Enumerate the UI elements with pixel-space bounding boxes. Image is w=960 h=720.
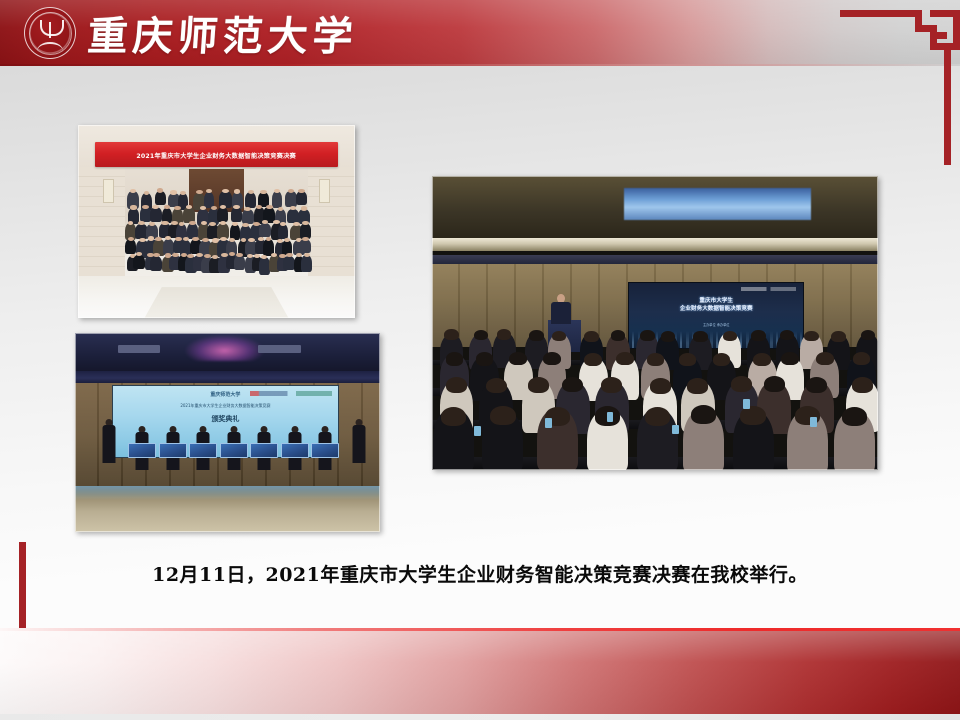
audience-head: [446, 377, 467, 393]
crowd-head: [144, 191, 150, 195]
crowd-head: [298, 189, 305, 193]
event-banner: 2021年重庆市大学生企业财务大数据智能决策竞赛决赛: [95, 142, 339, 167]
crowd-figure: [125, 239, 136, 254]
person-body: [102, 425, 115, 463]
audience-head: [543, 352, 561, 365]
hall-beam: [432, 238, 878, 251]
photo-carpet: [144, 287, 288, 318]
crowd-head: [130, 205, 136, 209]
crowd-head: [211, 206, 217, 210]
award-ceiling-glow: [185, 335, 264, 361]
crowd-head: [271, 253, 277, 257]
audience-head: [474, 330, 488, 341]
hall-upper-screen: [432, 255, 878, 264]
audience-head: [687, 378, 708, 394]
water-bottle: [474, 426, 481, 436]
audience-head: [490, 406, 515, 425]
audience-head: [679, 353, 697, 366]
crowd-head: [280, 222, 286, 226]
audience-head: [853, 352, 871, 365]
photo-lamp-right: [319, 179, 330, 203]
audience-head: [645, 407, 670, 426]
audience-head: [713, 353, 731, 366]
audience-head: [831, 331, 845, 342]
audience-head: [723, 331, 737, 342]
crowd-head: [288, 189, 294, 193]
crowd-figure: [133, 255, 145, 270]
page-footer: [0, 631, 960, 720]
crowd-head: [212, 255, 218, 259]
audience-head: [861, 330, 875, 341]
audience-head: [780, 330, 794, 341]
audience-head: [842, 407, 867, 426]
crowd-head: [175, 237, 181, 241]
certificate-board: [159, 443, 187, 458]
crowd-head: [301, 206, 308, 210]
crowd-head: [139, 238, 146, 242]
crowd-figure: [242, 209, 255, 224]
hall-led-panel: [624, 188, 811, 220]
audience-head: [486, 378, 507, 394]
crowd-head: [152, 205, 159, 209]
audience-head: [661, 331, 675, 342]
audience-head: [509, 352, 527, 365]
audience-head: [693, 331, 707, 342]
speaker-body: [551, 302, 571, 323]
crowd-figure: [234, 255, 246, 270]
group-photo: 2021年重庆市大学生企业财务大数据智能决策竞赛决赛: [78, 125, 355, 318]
crowd-head: [248, 238, 255, 242]
crowd-figure: [231, 207, 243, 222]
audience-head: [806, 377, 827, 393]
audience-head: [781, 352, 799, 365]
photo-wall-right: [308, 167, 355, 287]
top-right-corner-ornament: [840, 10, 960, 170]
person-body: [352, 425, 365, 463]
award-ceremony-photo: 重庆师范大学 2021年重庆市大学生企业财务大数据智能决策竞赛 颁奖典礼: [75, 333, 380, 532]
crowd-head: [234, 189, 240, 193]
audience-head: [816, 352, 834, 365]
audience-head: [647, 353, 665, 366]
water-bottle: [672, 425, 679, 435]
crowd-figure: [299, 239, 311, 253]
certificate-board: [128, 443, 156, 458]
crowd-figure: [272, 191, 282, 208]
water-bottle: [545, 418, 552, 428]
photo-wall-left: [78, 167, 125, 287]
crowd-head: [179, 222, 185, 226]
header-underline: [0, 64, 960, 66]
slide-page: 重庆师范大学 2021年重庆市大学生企业财务大数据智能决策竞赛决赛: [0, 0, 960, 720]
crowd-head: [192, 237, 199, 241]
crowd-head: [248, 190, 254, 194]
audience-head: [731, 376, 752, 392]
audience-head: [476, 352, 494, 365]
crowd-head: [260, 190, 266, 194]
crowd-head: [189, 221, 195, 225]
crowd-figure: [155, 191, 166, 205]
crowd-head: [148, 236, 154, 240]
crowd-head: [128, 237, 134, 241]
water-bottle: [607, 412, 614, 422]
audience-head: [751, 330, 765, 341]
audience-head: [562, 377, 583, 393]
page-header: 重庆师范大学: [0, 0, 960, 66]
hall-speaker: [550, 294, 572, 323]
crowd-head: [258, 237, 264, 241]
award-screen-logos: [250, 391, 331, 396]
certificate-board: [189, 443, 217, 458]
audience-head: [441, 407, 466, 426]
audience-head: [446, 352, 464, 365]
screen-sponsor-logos: [741, 287, 797, 292]
crowd-figure: [217, 207, 228, 221]
audience-head: [640, 330, 654, 341]
certificate-board: [311, 443, 339, 458]
crowd-head: [186, 205, 192, 209]
audience-head: [616, 352, 634, 365]
audience-head: [529, 330, 543, 341]
audience-head: [497, 329, 511, 340]
award-vent-left: [118, 345, 161, 353]
crowd-head: [278, 207, 284, 211]
certificate-board: [281, 443, 309, 458]
crowd-figure: [285, 191, 296, 207]
crowd-head: [180, 191, 186, 195]
crowd-head: [155, 237, 162, 241]
crowd-head: [149, 222, 156, 226]
footer-base-strip: [0, 714, 960, 720]
crowd-head: [172, 253, 179, 257]
screen-title: 重庆市大学生 企业财务大数据智能决策竞赛: [629, 297, 803, 314]
audience-head: [691, 405, 716, 424]
water-bottle: [810, 417, 817, 427]
award-vent-right: [258, 345, 301, 353]
crowd-head: [274, 189, 280, 193]
screen-title-line1: 重庆市大学生: [629, 297, 803, 305]
university-seal-icon: [24, 7, 76, 59]
crowd-head: [161, 221, 168, 225]
crowd-head: [170, 190, 177, 194]
crowd-head: [174, 206, 181, 210]
audience-head: [601, 377, 622, 393]
crowd-head: [142, 205, 149, 209]
school-name-title: 重庆师范大学: [86, 5, 360, 61]
crowd-head: [302, 221, 309, 225]
certificate-board: [220, 443, 248, 458]
conference-hall-photo: 重庆市大学生 企业财务大数据智能决策竞赛 主办单位 承办单位: [432, 176, 878, 470]
audience-head: [650, 378, 671, 394]
seal-flame-glyph: [39, 20, 61, 42]
audience-head: [444, 329, 458, 340]
crowd-head: [201, 221, 207, 225]
award-stage-light: [75, 486, 380, 500]
crowd-head: [157, 188, 163, 192]
slide-caption: 12月11日，2021年重庆市大学生企业财务智能决策竞赛决赛在我校举行。: [0, 560, 960, 587]
audience-head: [552, 331, 566, 342]
crowd-figure: [296, 191, 308, 205]
crowd-figure: [150, 207, 162, 222]
crowd-head: [266, 237, 272, 241]
crowd-head: [266, 205, 273, 209]
crowd-head: [229, 238, 235, 242]
hall-audience: [432, 332, 878, 470]
photo-lamp-left: [103, 179, 114, 203]
crowd-head: [304, 253, 310, 257]
event-banner-text: 2021年重庆市大学生企业财务大数据智能决策竞赛决赛: [137, 150, 297, 160]
award-screen-crest: 重庆师范大学: [210, 391, 240, 398]
crowd-head: [220, 205, 226, 209]
crowd-figure: [259, 223, 271, 237]
audience-head: [804, 331, 818, 342]
crowd-head: [232, 222, 238, 226]
crowd-head: [236, 253, 243, 257]
footer-gloss: [0, 631, 960, 720]
crowd-head: [302, 237, 309, 241]
audience-head: [764, 376, 785, 392]
crowd-head: [233, 205, 239, 209]
crowd-head: [242, 223, 249, 227]
photo-crowd: [125, 191, 308, 280]
audience-head: [753, 353, 771, 366]
crowd-figure: [245, 192, 256, 208]
audience-head: [528, 377, 549, 393]
crowd-figure: [150, 256, 162, 271]
audience-head: [584, 353, 602, 366]
crowd-head: [220, 237, 227, 241]
crowd-head: [196, 253, 203, 257]
water-bottle: [743, 399, 750, 409]
crowd-figure: [301, 255, 312, 272]
crowd-head: [284, 238, 290, 242]
certificate-board: [250, 443, 278, 458]
audience-head: [584, 331, 598, 342]
award-screen-title: 2021年重庆市大学生企业财务大数据智能决策竞赛: [180, 403, 270, 409]
audience-head: [852, 377, 873, 393]
screen-title-line2: 企业财务大数据智能决策竞赛: [629, 305, 803, 313]
crowd-head: [181, 253, 187, 257]
audience-head: [611, 330, 625, 341]
screen-subtitle: 主办单位 承办单位: [629, 323, 803, 328]
